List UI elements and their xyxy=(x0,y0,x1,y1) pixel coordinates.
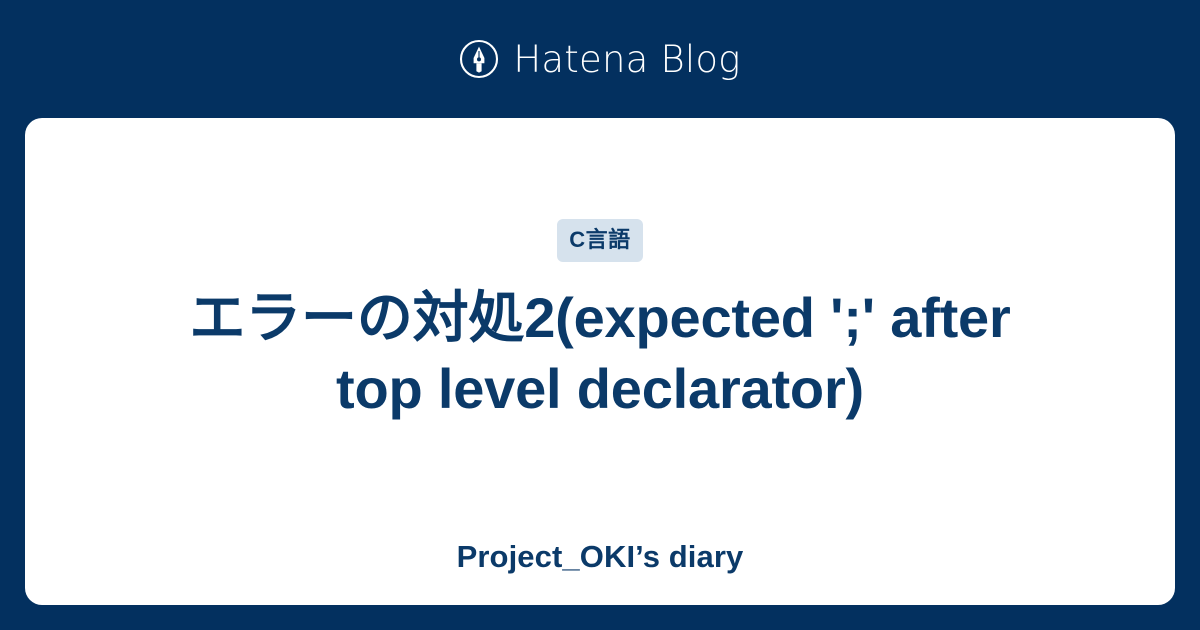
hatena-blog-logo xyxy=(459,39,499,79)
fountain-pen-nib-in-circle-icon xyxy=(459,39,499,79)
entry-title: エラーの対処2(expected ';' after top level dec… xyxy=(150,283,1050,424)
entry-card-content: C言語 エラーの対処2(expected ';' after top level… xyxy=(60,219,1140,575)
hatena-blog-brand: Hatena Blog xyxy=(0,0,1200,118)
blog-name: Project_OKI’s diary xyxy=(457,538,744,575)
category-badge[interactable]: C言語 xyxy=(557,219,642,262)
hatena-blog-wordmark: Hatena Blog xyxy=(513,41,740,78)
entry-card: C言語 エラーの対処2(expected ';' after top level… xyxy=(25,118,1175,605)
